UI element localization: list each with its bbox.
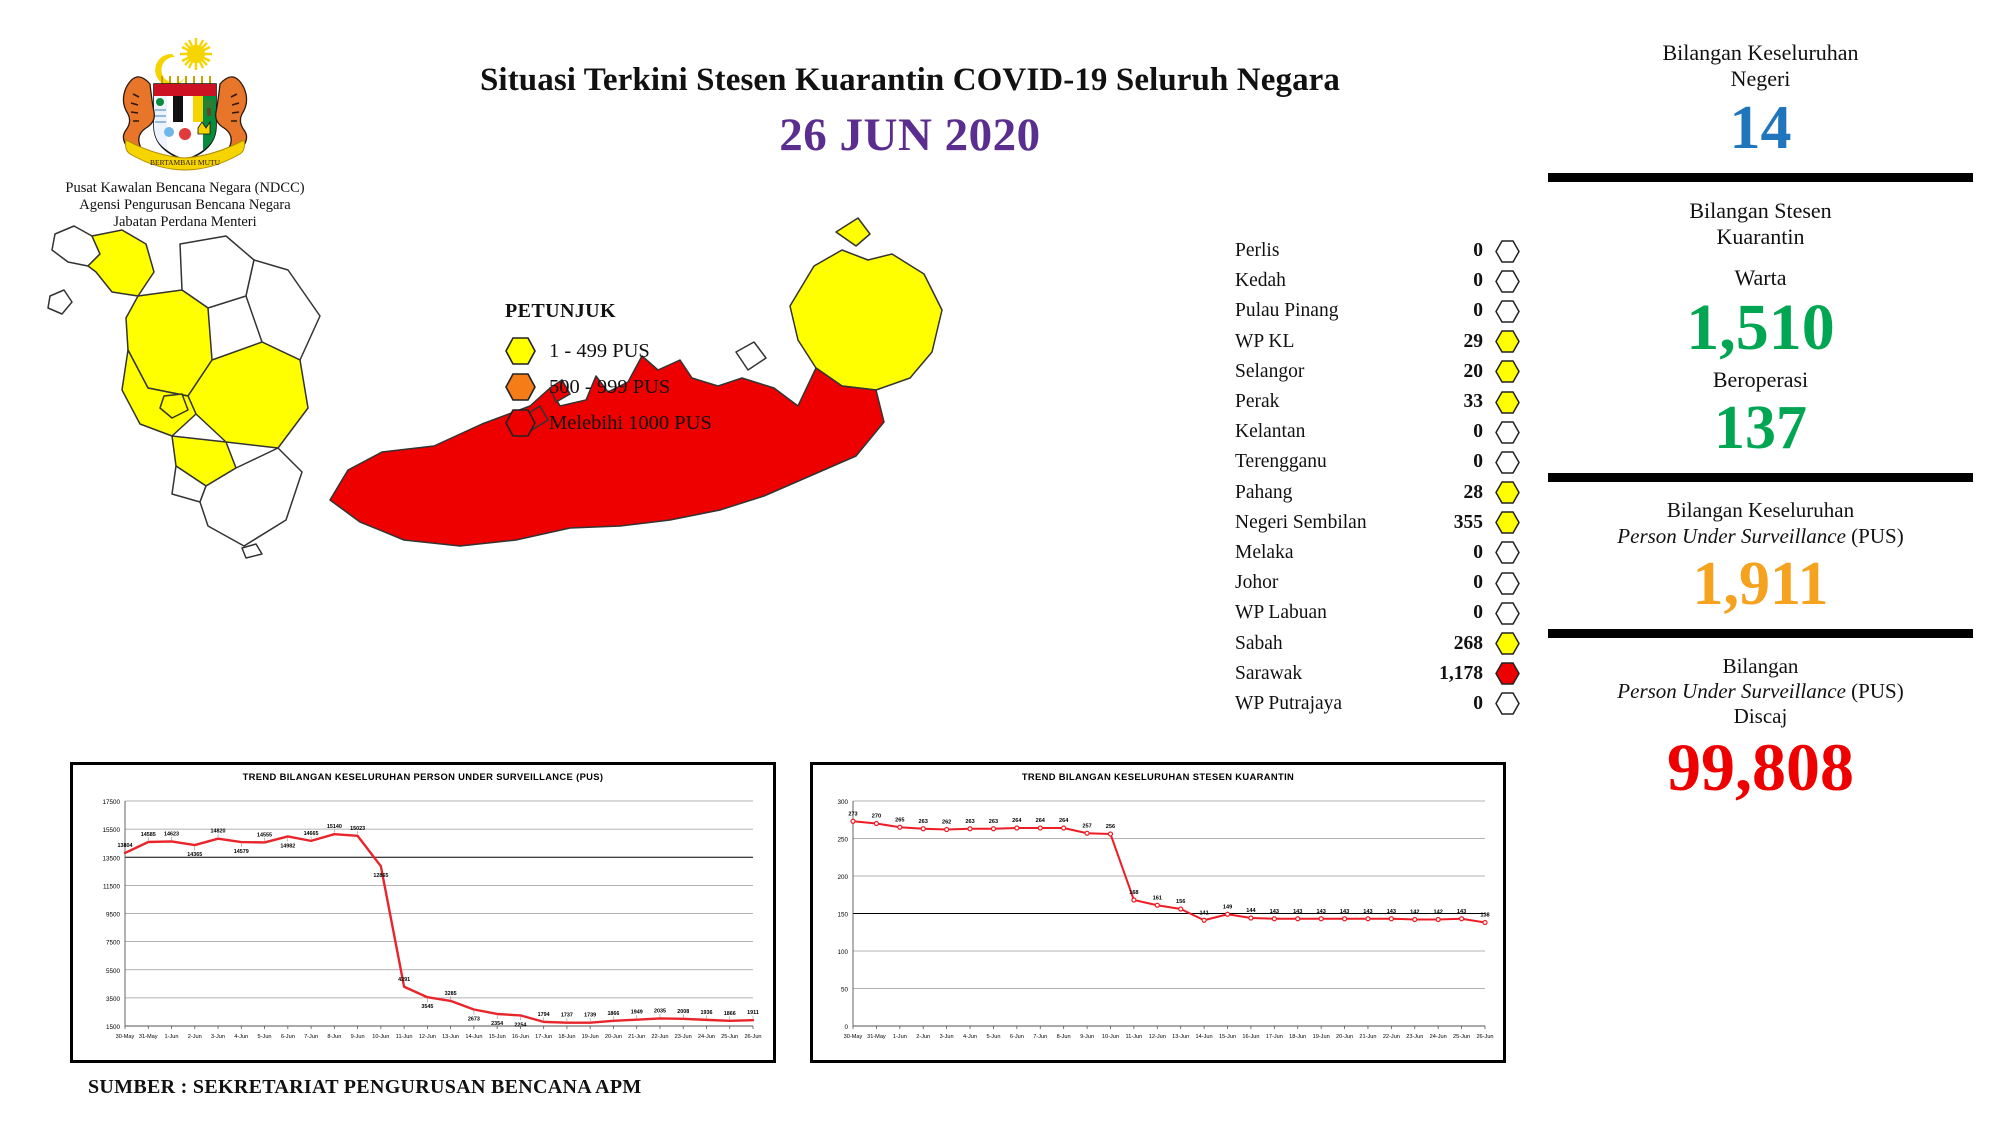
legend-title: PETUNJUK [505,300,765,323]
svg-text:1949: 1949 [631,1010,643,1016]
svg-text:265: 265 [895,817,904,823]
state-name: Pahang [1235,482,1421,504]
svg-text:BERTAMBAH MUTU: BERTAMBAH MUTU [150,158,221,167]
svg-text:143: 143 [1316,909,1325,915]
svg-text:16-Jun: 16-Jun [1242,1034,1259,1040]
state-status-hexagon-icon [1495,451,1520,474]
state-row: Sabah268 [1235,628,1520,658]
svg-text:24-Jun: 24-Jun [698,1034,715,1040]
state-name: Melaka [1235,542,1421,564]
svg-text:1866: 1866 [724,1011,736,1017]
state-status-hexagon-icon [1495,572,1520,595]
svg-text:0: 0 [844,1024,848,1031]
svg-text:1739: 1739 [584,1013,596,1019]
svg-text:3-Jun: 3-Jun [211,1034,225,1040]
svg-text:17-Jun: 17-Jun [535,1034,552,1040]
svg-text:300: 300 [837,799,848,806]
chart-pus-trend: TREND BILANGAN KESELURUHAN PERSON UNDER … [70,762,776,1063]
svg-text:23-Jun: 23-Jun [1406,1034,1423,1040]
svg-text:4-Jun: 4-Jun [963,1034,977,1040]
stat-label-negeri-1: Bilangan Keseluruhan [1548,40,1973,66]
svg-text:26-Jun: 26-Jun [744,1034,761,1040]
svg-text:22-Jun: 22-Jun [651,1034,668,1040]
svg-text:143: 143 [1270,909,1279,915]
state-status-hexagon-icon [1495,541,1520,564]
svg-text:143: 143 [1293,909,1302,915]
svg-text:2354: 2354 [491,1021,503,1027]
legend-label-2: Melebihi 1000 PUS [549,412,712,435]
svg-text:18-Jun: 18-Jun [558,1034,575,1040]
legend-item-1: 500 - 999 PUS [505,369,765,405]
svg-text:144: 144 [1246,908,1256,914]
hexagon-icon-orange [505,373,536,401]
stat-value-warta: 1,510 [1548,295,1973,361]
state-value: 0 [1421,542,1483,564]
svg-text:17-Jun: 17-Jun [1266,1034,1283,1040]
svg-text:3285: 3285 [445,991,457,997]
state-value: 0 [1421,602,1483,624]
legend-label-0: 1 - 499 PUS [549,340,650,363]
svg-text:30-May: 30-May [116,1034,135,1040]
report-date: 26 JUN 2020 [330,108,1490,162]
state-row: Kedah0 [1235,266,1520,296]
svg-text:1866: 1866 [607,1011,619,1017]
svg-text:14665: 14665 [304,831,319,837]
svg-text:256: 256 [1106,824,1115,830]
stat-block-pus-total: Bilangan Keseluruhan Person Under Survei… [1548,498,1973,614]
svg-text:14982: 14982 [280,843,295,849]
legend-item-2: Melebihi 1000 PUS [505,405,765,441]
pus-term-italic: Person Under Surveillance [1617,524,1846,548]
svg-text:11500: 11500 [103,883,121,890]
svg-text:31-May: 31-May [139,1034,158,1040]
svg-text:14623: 14623 [164,831,179,837]
state-name: Kelantan [1235,421,1421,443]
svg-text:2035: 2035 [654,1008,666,1014]
malaysia-coat-of-arms-icon: BERTAMBAH MUTU [100,24,270,174]
svg-text:1794: 1794 [538,1012,550,1018]
state-value: 0 [1421,421,1483,443]
state-status-hexagon-icon [1495,632,1520,655]
svg-text:10-Jun: 10-Jun [372,1034,389,1040]
svg-text:3500: 3500 [106,996,121,1003]
legend: PETUNJUK 1 - 499 PUS 500 - 999 PUS Meleb… [505,300,765,441]
svg-text:15-Jun: 15-Jun [489,1034,506,1040]
svg-text:12-Jun: 12-Jun [1149,1034,1166,1040]
svg-text:1-Jun: 1-Jun [165,1034,179,1040]
stat-block-pus-discaj: Bilangan Person Under Surveillance (PUS)… [1548,654,1973,802]
state-status-hexagon-icon [1495,330,1520,353]
svg-text:5500: 5500 [106,968,121,975]
state-row: Pahang28 [1235,478,1520,508]
state-name: Kedah [1235,270,1421,292]
svg-text:12-Jun: 12-Jun [419,1034,436,1040]
svg-text:1737: 1737 [561,1013,573,1019]
state-name: Sabah [1235,633,1421,655]
state-status-hexagon-icon [1495,360,1520,383]
svg-text:6-Jun: 6-Jun [1010,1034,1024,1040]
svg-text:142: 142 [1410,910,1419,916]
state-status-hexagon-icon [1495,421,1520,444]
state-status-hexagon-icon [1495,391,1520,414]
source-footer: SUMBER : SEKRETARIAT PENGURUSAN BENCANA … [88,1076,642,1099]
state-status-hexagon-icon [1495,240,1520,263]
svg-text:8-Jun: 8-Jun [1057,1034,1071,1040]
svg-text:14579: 14579 [234,849,249,855]
svg-text:1-Jun: 1-Jun [893,1034,907,1040]
infographic-root: BERTAMBAH MUTU Pusat Kawalan Bencana Neg… [0,0,2000,1125]
stat-label-warta: Warta [1548,265,1973,291]
svg-text:168: 168 [1129,890,1138,896]
state-name: Pulau Pinang [1235,300,1421,322]
svg-text:4291: 4291 [398,977,410,983]
svg-text:264: 264 [1036,818,1046,824]
state-name: Selangor [1235,361,1421,383]
svg-text:13-Jun: 13-Jun [1172,1034,1189,1040]
state-value: 20 [1421,361,1483,383]
svg-text:1500: 1500 [106,1024,121,1031]
svg-text:18-Jun: 18-Jun [1289,1034,1306,1040]
svg-text:15023: 15023 [350,826,365,832]
stat-label-negeri-2: Negeri [1548,66,1973,92]
state-status-hexagon-icon [1495,300,1520,323]
svg-text:273: 273 [848,811,857,817]
svg-text:141: 141 [1199,910,1208,916]
state-row: WP KL29 [1235,327,1520,357]
state-value: 33 [1421,391,1483,413]
state-row: WP Putrajaya0 [1235,689,1520,719]
state-name: WP Putrajaya [1235,693,1421,715]
state-value: 0 [1421,270,1483,292]
svg-text:17500: 17500 [102,799,120,806]
legend-item-0: 1 - 499 PUS [505,333,765,369]
stat-label-beroperasi: Beroperasi [1548,367,1973,393]
stat-value-pus-total: 1,911 [1548,553,1973,615]
state-row: Perak33 [1235,387,1520,417]
svg-text:50: 50 [841,987,849,994]
state-value: 355 [1421,512,1483,534]
svg-text:11-Jun: 11-Jun [396,1034,413,1040]
state-name: Perak [1235,391,1421,413]
svg-text:100: 100 [837,949,848,956]
stat-label-stesen-1: Bilangan Stesen [1548,198,1973,224]
pus-term-italic-2: Person Under Surveillance [1617,679,1846,703]
svg-text:1936: 1936 [700,1010,712,1016]
state-name: Johor [1235,572,1421,594]
svg-text:161: 161 [1153,895,1162,901]
svg-text:13500: 13500 [102,855,120,862]
svg-text:257: 257 [1082,823,1091,829]
state-status-hexagon-icon [1495,270,1520,293]
svg-text:14365: 14365 [187,852,202,858]
svg-text:12865: 12865 [373,873,388,879]
svg-text:3-Jun: 3-Jun [940,1034,954,1040]
svg-text:6-Jun: 6-Jun [281,1034,295,1040]
svg-text:25-Jun: 25-Jun [721,1034,738,1040]
svg-text:14-Jun: 14-Jun [1196,1034,1213,1040]
state-row: Melaka0 [1235,538,1520,568]
logo-caption-line-1: Pusat Kawalan Bencana Negara (NDCC) [60,180,310,197]
hexagon-icon-red [505,409,536,437]
svg-text:7-Jun: 7-Jun [304,1034,318,1040]
divider-1 [1548,173,1973,182]
svg-text:263: 263 [989,819,998,825]
chart-stesen-trend: TREND BILANGAN KESELURUHAN STESEN KUARAN… [810,762,1506,1063]
state-status-hexagon-icon [1495,602,1520,625]
svg-text:30-May: 30-May [844,1034,863,1040]
svg-text:21-Jun: 21-Jun [628,1034,645,1040]
svg-text:2008: 2008 [677,1009,689,1015]
legend-label-1: 500 - 999 PUS [549,376,670,399]
svg-text:263: 263 [919,819,928,825]
state-status-hexagon-icon [1495,662,1520,685]
svg-text:142: 142 [1434,910,1443,916]
svg-text:13804: 13804 [118,843,133,849]
state-value: 268 [1421,633,1483,655]
svg-text:31-May: 31-May [867,1034,886,1040]
state-status-hexagon-icon [1495,692,1520,715]
svg-text:23-Jun: 23-Jun [675,1034,692,1040]
svg-text:14820: 14820 [211,829,226,835]
svg-text:2673: 2673 [468,1017,480,1023]
pus-term-tail-2: (PUS) [1846,679,1904,703]
state-value: 0 [1421,240,1483,262]
svg-text:26-Jun: 26-Jun [1476,1034,1493,1040]
svg-text:2254: 2254 [514,1022,526,1028]
state-value: 28 [1421,482,1483,504]
state-row: Negeri Sembilan355 [1235,508,1520,538]
page-title: Situasi Terkini Stesen Kuarantin COVID-1… [330,62,1490,99]
svg-text:13-Jun: 13-Jun [442,1034,459,1040]
state-name: Negeri Sembilan [1235,512,1421,534]
state-name: WP Labuan [1235,602,1421,624]
state-value: 0 [1421,300,1483,322]
svg-text:250: 250 [837,837,848,844]
stat-label-stesen-2: Kuarantin [1548,224,1973,250]
svg-text:156: 156 [1176,899,1185,905]
stat-value-negeri: 14 [1548,97,1973,159]
pus-term-tail: (PUS) [1846,524,1904,548]
svg-text:10-Jun: 10-Jun [1102,1034,1119,1040]
state-row: Kelantan0 [1235,417,1520,447]
state-value: 0 [1421,572,1483,594]
svg-text:14555: 14555 [257,832,272,838]
stat-label-pus-total-2: Person Under Surveillance (PUS) [1548,524,1973,549]
stat-label-discaj-2: Person Under Surveillance (PUS) [1548,679,1973,704]
svg-text:149: 149 [1223,904,1232,910]
state-value: 0 [1421,693,1483,715]
svg-text:22-Jun: 22-Jun [1383,1034,1400,1040]
svg-text:15500: 15500 [102,827,120,834]
svg-text:263: 263 [965,819,974,825]
svg-text:270: 270 [872,814,881,820]
svg-text:5-Jun: 5-Jun [258,1034,272,1040]
stat-value-pus-discaj: 99,808 [1548,733,1973,801]
svg-text:21-Jun: 21-Jun [1359,1034,1376,1040]
svg-text:5-Jun: 5-Jun [986,1034,1000,1040]
divider-2 [1548,473,1973,482]
svg-text:11-Jun: 11-Jun [1126,1034,1143,1040]
svg-text:3545: 3545 [421,1004,433,1010]
stat-value-beroperasi: 137 [1548,397,1973,459]
svg-text:15140: 15140 [327,824,342,830]
svg-text:143: 143 [1457,909,1466,915]
stat-label-discaj-1: Bilangan [1548,654,1973,679]
svg-text:14-Jun: 14-Jun [465,1034,482,1040]
chart-stesen-svg: 05010015020025030030-May31-May1-Jun2-Jun… [813,765,1497,1054]
svg-text:9500: 9500 [106,912,121,919]
svg-text:2-Jun: 2-Jun [916,1034,930,1040]
svg-text:9-Jun: 9-Jun [1080,1034,1094,1040]
svg-text:1911: 1911 [747,1010,759,1016]
svg-text:2-Jun: 2-Jun [188,1034,202,1040]
svg-text:200: 200 [837,874,848,881]
svg-text:150: 150 [837,912,848,919]
state-row: WP Labuan0 [1235,598,1520,628]
summary-panel: Bilangan Keseluruhan Negeri 14 Bilangan … [1548,40,1973,807]
state-name: Perlis [1235,240,1421,262]
state-row: Perlis0 [1235,236,1520,266]
state-value: 0 [1421,451,1483,473]
svg-text:9-Jun: 9-Jun [351,1034,365,1040]
svg-text:143: 143 [1387,909,1396,915]
chart-pus-svg: 1500350055007500950011500135001550017500… [73,765,767,1054]
state-row: Sarawak1,178 [1235,659,1520,689]
svg-text:20-Jun: 20-Jun [1336,1034,1353,1040]
svg-text:25-Jun: 25-Jun [1453,1034,1470,1040]
svg-text:264: 264 [1012,818,1022,824]
svg-text:20-Jun: 20-Jun [605,1034,622,1040]
svg-text:143: 143 [1363,909,1372,915]
logo-block: BERTAMBAH MUTU Pusat Kawalan Bencana Neg… [60,24,310,231]
svg-text:138: 138 [1480,913,1489,919]
svg-text:264: 264 [1059,818,1069,824]
svg-text:262: 262 [942,820,951,826]
svg-text:16-Jun: 16-Jun [512,1034,529,1040]
state-row: Johor0 [1235,568,1520,598]
svg-text:19-Jun: 19-Jun [1313,1034,1330,1040]
state-list: Perlis0Kedah0Pulau Pinang0WP KL29Selango… [1235,236,1520,719]
stat-label-discaj-3: Discaj [1548,704,1973,729]
state-row: Terengganu0 [1235,447,1520,477]
state-name: Sarawak [1235,663,1421,685]
state-name: WP KL [1235,331,1421,353]
svg-text:15-Jun: 15-Jun [1219,1034,1236,1040]
svg-text:4-Jun: 4-Jun [234,1034,248,1040]
state-row: Selangor20 [1235,357,1520,387]
stat-block-negeri: Bilangan Keseluruhan Negeri 14 [1548,40,1973,159]
svg-text:19-Jun: 19-Jun [582,1034,599,1040]
state-value: 29 [1421,331,1483,353]
state-name: Terengganu [1235,451,1421,473]
svg-text:24-Jun: 24-Jun [1430,1034,1447,1040]
state-row: Pulau Pinang0 [1235,296,1520,326]
state-status-hexagon-icon [1495,511,1520,534]
svg-text:7-Jun: 7-Jun [1033,1034,1047,1040]
stat-block-stesen: Bilangan Stesen Kuarantin Warta 1,510 Be… [1548,198,1973,460]
divider-3 [1548,629,1973,638]
svg-text:143: 143 [1340,909,1349,915]
svg-text:8-Jun: 8-Jun [327,1034,341,1040]
state-value: 1,178 [1421,663,1483,685]
state-status-hexagon-icon [1495,481,1520,504]
hexagon-icon-yellow [505,337,536,365]
svg-text:7500: 7500 [106,940,121,947]
svg-text:14585: 14585 [141,832,156,838]
stat-label-pus-total-1: Bilangan Keseluruhan [1548,498,1973,523]
